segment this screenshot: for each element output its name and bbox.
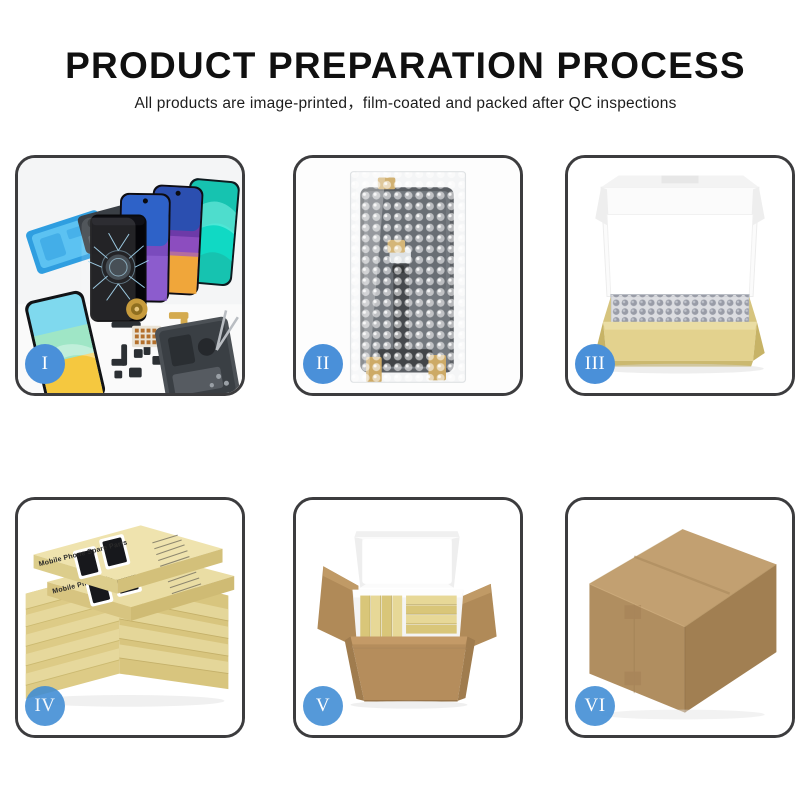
page-subtitle: All products are image-printed，film-coat… <box>0 88 811 114</box>
page-title: PRODUCT PREPARATION PROCESS <box>0 0 811 88</box>
step-panel-3[interactable]: III <box>565 155 795 396</box>
step-panel-6[interactable]: VI <box>565 497 795 738</box>
badge-step-2: II <box>303 344 343 384</box>
header: PRODUCT PREPARATION PROCESS All products… <box>0 0 811 114</box>
step-panel-5[interactable]: V <box>293 497 523 738</box>
step-panel-4[interactable]: Mobile Phone Spare Parts <box>15 497 245 738</box>
badge-step-1: I <box>25 344 65 384</box>
badge-step-4: IV <box>25 686 65 726</box>
badge-step-5: V <box>303 686 343 726</box>
step-panel-1[interactable]: I <box>15 155 245 396</box>
process-step-grid: I <box>15 155 796 736</box>
badge-step-3: III <box>575 344 615 384</box>
badge-step-6: VI <box>575 686 615 726</box>
step-panel-2[interactable]: II <box>293 155 523 396</box>
product-preparation-infographic: PRODUCT PREPARATION PROCESS All products… <box>0 0 811 811</box>
